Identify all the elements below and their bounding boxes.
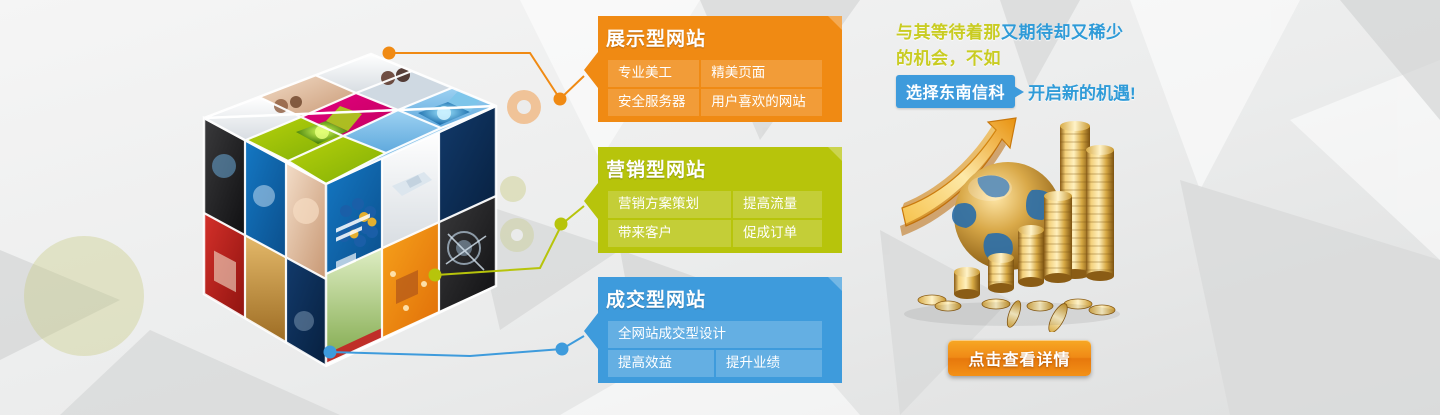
headline-tail: 开启新的机遇!	[1028, 79, 1136, 104]
globe-coins-graphic	[892, 108, 1124, 332]
feature-cell: 促成订单	[733, 220, 822, 247]
panel-marketing-title: 营销型网站	[606, 161, 824, 180]
website-cube	[196, 36, 546, 376]
hero-banner: 展示型网站 专业美工 精美页面 安全服务器 用户喜欢的网站 营销型网站 营销方案…	[0, 0, 1440, 415]
headline-line-2: 的机会，不如	[896, 46, 1186, 72]
panel-fold-corner	[828, 277, 842, 291]
panel-conversion-features: 全网站成交型设计 提高效益 提升业绩	[606, 319, 824, 379]
view-details-button[interactable]: 点击查看详情	[948, 340, 1091, 376]
table-row: 带来客户 促成订单	[608, 220, 822, 247]
coin-stack	[1086, 145, 1114, 281]
feature-cell: 安全服务器	[608, 89, 699, 116]
table-row: 营销方案策划 提高流量	[608, 191, 822, 218]
brand-tag-button[interactable]: 选择东南信科	[896, 75, 1015, 108]
feature-cell: 提高流量	[733, 191, 822, 218]
panel-showcase-website[interactable]: 展示型网站 专业美工 精美页面 安全服务器 用户喜欢的网站	[584, 16, 842, 122]
feature-cell: 带来客户	[608, 220, 731, 247]
feature-cell: 用户喜欢的网站	[701, 89, 822, 116]
coin-stack	[954, 267, 980, 299]
panel-fold-corner	[828, 147, 842, 161]
panel-showcase-title: 展示型网站	[606, 30, 824, 49]
headline-line1-blue: 又期待却又稀少	[1001, 23, 1124, 42]
headline-line1-yellow: 与其等待着那	[896, 23, 1001, 42]
feature-cell: 提高效益	[608, 350, 714, 377]
panel-conversion-title: 成交型网站	[606, 291, 824, 310]
table-row: 安全服务器 用户喜欢的网站	[608, 89, 822, 116]
panel-marketing-website[interactable]: 营销型网站 营销方案策划 提高流量 带来客户 促成订单	[584, 147, 842, 253]
arrow-right-icon	[1014, 86, 1024, 98]
feature-cell: 提升业绩	[716, 350, 822, 377]
coin-stack	[988, 253, 1014, 293]
coin-stack	[1044, 191, 1072, 283]
panel-fold-corner	[828, 16, 842, 30]
headline-line-3: 选择东南信科 开启新的机遇!	[896, 75, 1186, 108]
feature-cell: 专业美工	[608, 60, 699, 87]
panel-conversion-website[interactable]: 成交型网站 全网站成交型设计 提高效益 提升业绩	[584, 277, 842, 383]
table-row: 提高效益 提升业绩	[608, 350, 822, 377]
headline-line-1: 与其等待着那又期待却又稀少	[896, 20, 1186, 46]
table-row: 专业美工 精美页面	[608, 60, 822, 87]
panel-marketing-features: 营销方案策划 提高流量 带来客户 促成订单	[606, 189, 824, 249]
feature-cell: 营销方案策划	[608, 191, 731, 218]
table-row: 全网站成交型设计	[608, 321, 822, 348]
panel-showcase-features: 专业美工 精美页面 安全服务器 用户喜欢的网站	[606, 58, 824, 118]
headline-block: 与其等待着那又期待却又稀少 的机会，不如 选择东南信科 开启新的机遇!	[896, 20, 1186, 108]
coin-stack	[1018, 225, 1044, 287]
feature-cell: 精美页面	[701, 60, 822, 87]
feature-cell: 全网站成交型设计	[608, 321, 822, 348]
